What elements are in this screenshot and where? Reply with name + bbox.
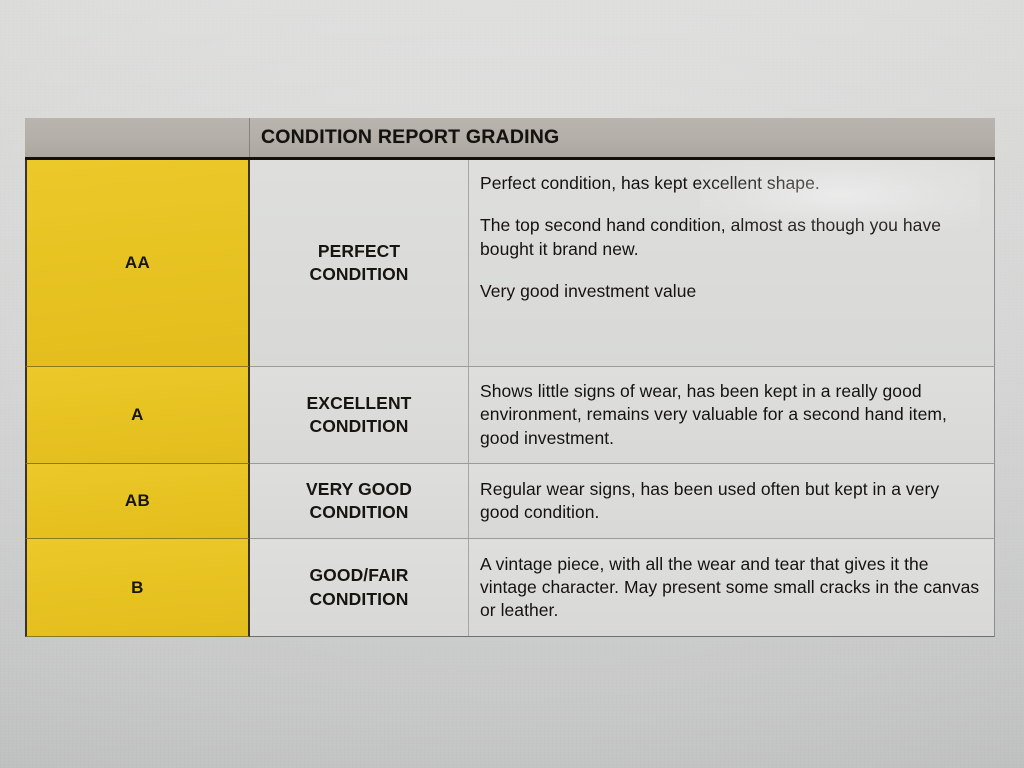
description-cell-aa: Perfect condition, has kept excellent sh… [469, 160, 994, 366]
description-paragraph: Shows little signs of wear, has been kep… [480, 380, 980, 450]
condition-label: GOOD/FAIR CONDITION [309, 564, 408, 610]
condition-label: VERY GOOD CONDITION [306, 478, 412, 524]
grade-label: AA [125, 253, 150, 273]
condition-label: EXCELLENT CONDITION [307, 392, 412, 438]
page-title: CONDITION REPORT GRADING [250, 126, 995, 149]
grade-label: A [131, 405, 144, 425]
table-header-band: CONDITION REPORT GRADING [25, 118, 995, 160]
grade-cell-ab: AB [25, 464, 250, 539]
table-row: AB VERY GOOD CONDITION Regular wear sign… [25, 464, 995, 539]
grade-cell-b: B [25, 539, 250, 637]
condition-label-line2: CONDITION [309, 416, 408, 436]
condition-report-grading-table: CONDITION REPORT GRADING AA PERFECT COND… [25, 118, 995, 640]
condition-label-line1: VERY GOOD [306, 479, 412, 499]
table-row: AA PERFECT CONDITION Perfect condition, … [25, 160, 995, 367]
grade-cell-aa: AA [25, 160, 250, 367]
description-paragraph: A vintage piece, with all the wear and t… [480, 553, 980, 623]
condition-label-line1: EXCELLENT [307, 393, 412, 413]
condition-label-line2: CONDITION [309, 264, 408, 284]
condition-label-line2: CONDITION [309, 502, 408, 522]
table-row: A EXCELLENT CONDITION Shows little signs… [25, 367, 995, 464]
table-body: AA PERFECT CONDITION Perfect condition, … [25, 160, 995, 637]
description-paragraph: Perfect condition, has kept excellent sh… [480, 172, 980, 195]
condition-label-line2: CONDITION [309, 589, 408, 609]
condition-cell-aa: PERFECT CONDITION [250, 160, 469, 366]
condition-cell-b: GOOD/FAIR CONDITION [250, 539, 469, 636]
description-cell-b: A vintage piece, with all the wear and t… [469, 539, 994, 636]
condition-cell-a: EXCELLENT CONDITION [250, 367, 469, 463]
description-paragraph: The top second hand condition, almost as… [480, 214, 980, 261]
condition-label-line1: PERFECT [318, 241, 400, 261]
grade-cell-a: A [25, 367, 250, 464]
header-left-spacer [25, 118, 250, 157]
description-paragraph: Regular wear signs, has been used often … [480, 478, 980, 525]
condition-label: PERFECT CONDITION [309, 240, 408, 286]
condition-cell-ab: VERY GOOD CONDITION [250, 464, 469, 538]
grade-label: B [131, 578, 144, 598]
description-paragraph: Very good investment value [480, 280, 980, 303]
condition-label-line1: GOOD/FAIR [309, 565, 408, 585]
description-cell-a: Shows little signs of wear, has been kep… [469, 367, 994, 463]
description-cell-ab: Regular wear signs, has been used often … [469, 464, 994, 538]
table-row: B GOOD/FAIR CONDITION A vintage piece, w… [25, 539, 995, 637]
grade-label: AB [125, 491, 150, 511]
